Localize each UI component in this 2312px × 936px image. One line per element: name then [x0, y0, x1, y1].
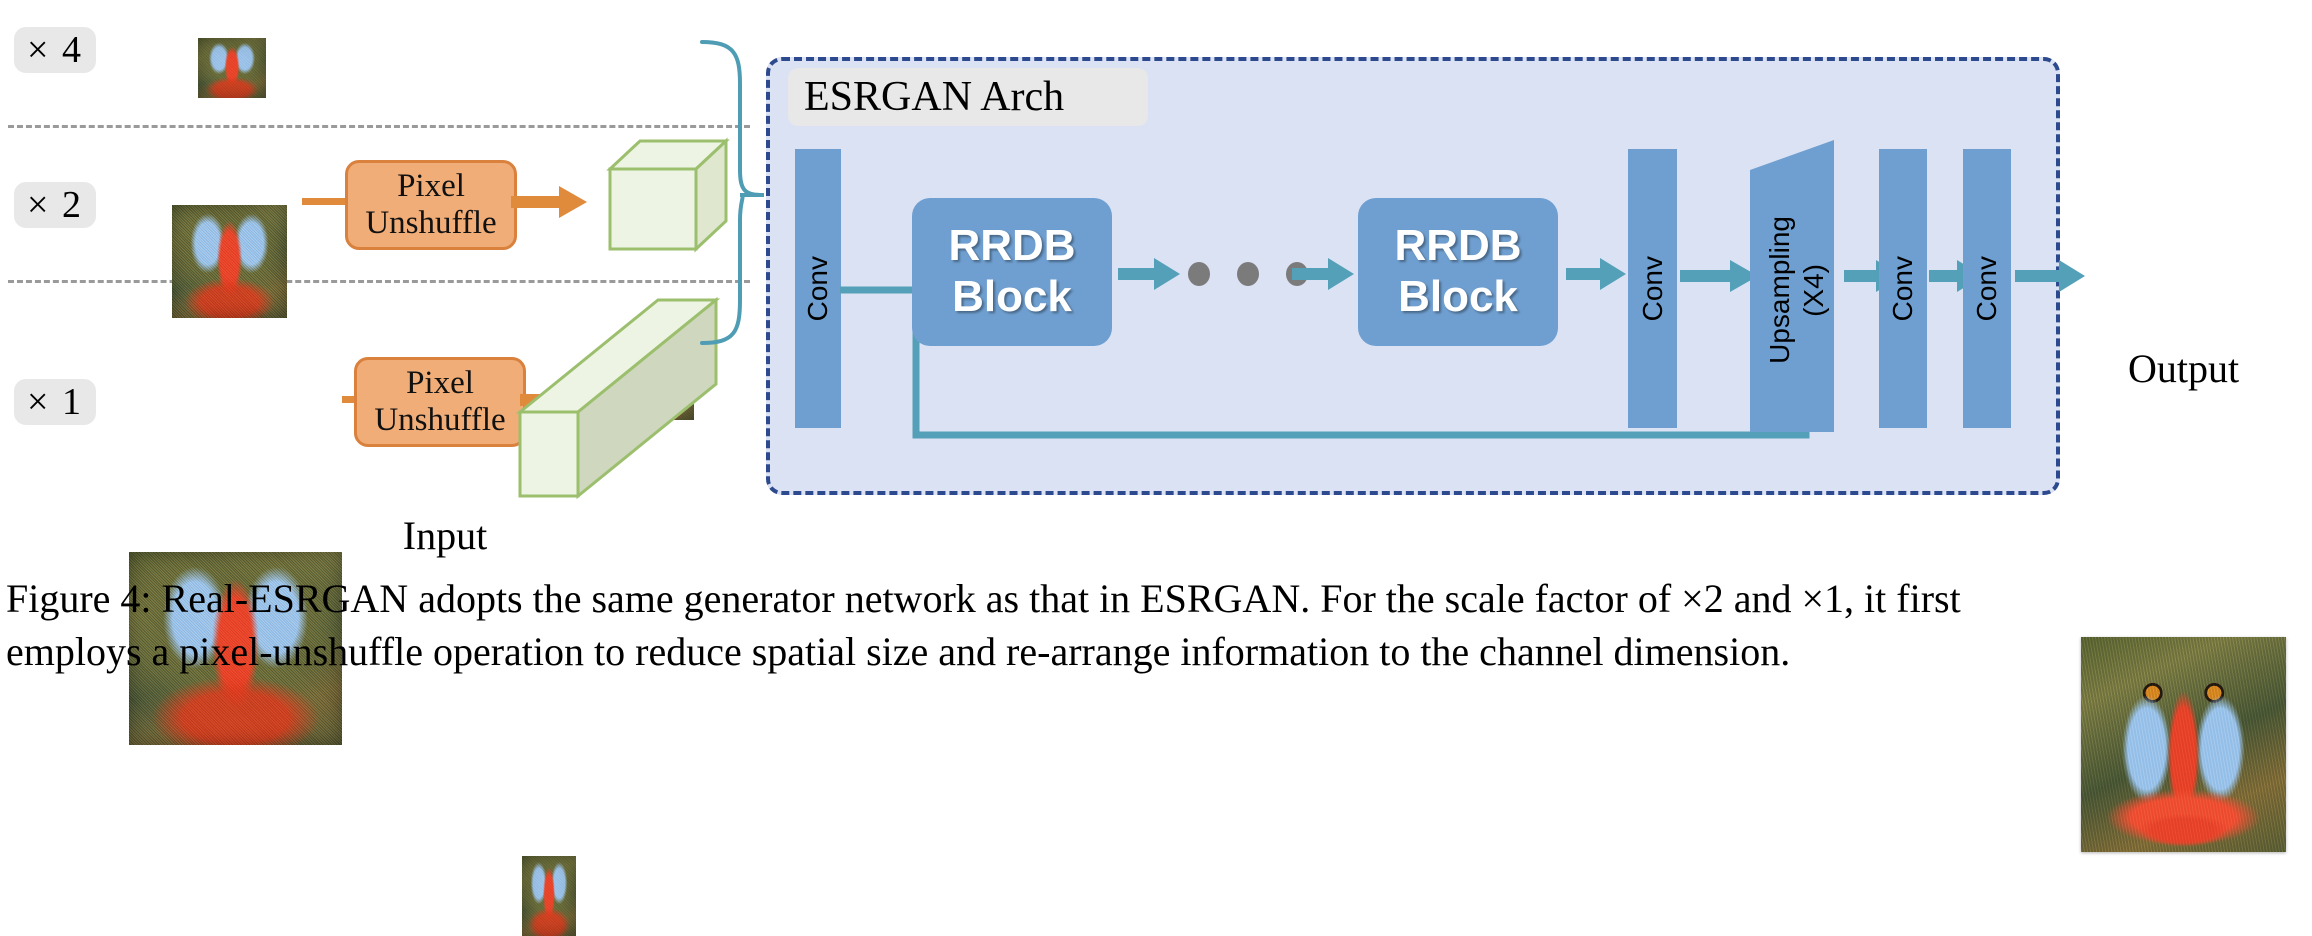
scale-pill-x4-label: × 4 [27, 28, 83, 72]
ellipsis-dot [1237, 262, 1259, 286]
figure-caption-line2: employs a pixel-unshuffle operation to r… [6, 625, 2306, 678]
conv-in-bar: Conv [795, 149, 841, 428]
scale-pill-x1-label: × 1 [27, 380, 83, 424]
figure-root: × 4 × 2 Pixel Unshuffle × 1 Pixel Unshuf… [0, 0, 2312, 716]
rrdb-block-first: RRDB Block [912, 198, 1112, 346]
input-label: Input [345, 512, 545, 559]
scale-pill-x2: × 2 [14, 182, 96, 228]
tensor-slab-x1 [508, 292, 726, 506]
pixel-unshuffle-box-x1: Pixel Unshuffle [354, 357, 526, 447]
pixel-unshuffle-x2-output-arrow [511, 182, 591, 222]
tensor-slab-x1-face-image [522, 856, 576, 936]
esrgan-arch-title-chip: ESRGAN Arch [788, 68, 1148, 126]
figure-caption: Figure 4: Real-ESRGAN adopts the same ge… [6, 572, 2306, 678]
scale-pill-x1: × 1 [14, 379, 96, 425]
conv-trunk-bar: Conv [1628, 149, 1677, 428]
rrdb-ellipsis [1188, 262, 1308, 286]
conv-trunk-label: Conv [1637, 256, 1669, 321]
rrdb-block-first-line2: Block [952, 272, 1072, 323]
rrdb-block-last-line2: Block [1398, 272, 1518, 323]
pixel-unshuffle-box-x2: Pixel Unshuffle [345, 160, 517, 250]
conv-post-2-bar: Conv [1963, 149, 2011, 428]
arrow-rrdb-first-to-dots [1118, 256, 1182, 292]
scale-pill-x2-label: × 2 [27, 183, 83, 227]
arrow-arch-to-output [2015, 258, 2087, 294]
pixel-unshuffle-x1-line1: Pixel [406, 365, 474, 402]
ellipsis-dot [1188, 262, 1210, 286]
pixel-unshuffle-x1-line2: Unshuffle [374, 402, 505, 439]
arrow-conv-trunk-to-upsampling [1680, 258, 1760, 294]
arrow-dots-to-rrdb-last [1292, 256, 1356, 292]
esrgan-arch-title: ESRGAN Arch [804, 73, 1064, 121]
figure-caption-line1: Figure 4: Real-ESRGAN adopts the same ge… [6, 572, 2306, 625]
conv-post-1-label: Conv [1887, 256, 1919, 321]
conv-post-2-label: Conv [1971, 256, 2003, 321]
pixel-unshuffle-x2-line2: Unshuffle [365, 205, 496, 242]
rrdb-block-last: RRDB Block [1358, 198, 1558, 346]
row-separator-top [8, 125, 750, 128]
upsampling-label-group: Upsampling (X4) [1756, 152, 1838, 428]
upsampling-label-line2: (X4) [1798, 264, 1830, 317]
rrdb-block-first-line1: RRDB [948, 221, 1075, 272]
pixel-unshuffle-x2-input-line [302, 198, 346, 205]
rrdb-block-last-line1: RRDB [1394, 221, 1521, 272]
baboon-thumb-x4 [198, 38, 266, 98]
arrow-rrdb-last-to-conv-trunk [1566, 256, 1628, 292]
scale-pill-x4: × 4 [14, 27, 96, 73]
conv-in-label: Conv [802, 256, 834, 321]
pixel-unshuffle-x2-line1: Pixel [397, 168, 465, 205]
output-label: Output [2081, 345, 2286, 392]
upsampling-label-line1: Upsampling [1764, 216, 1796, 364]
baboon-thumb-x2 [172, 205, 287, 318]
row-separator-bottom [8, 280, 750, 283]
conv-post-1-bar: Conv [1879, 149, 1927, 428]
